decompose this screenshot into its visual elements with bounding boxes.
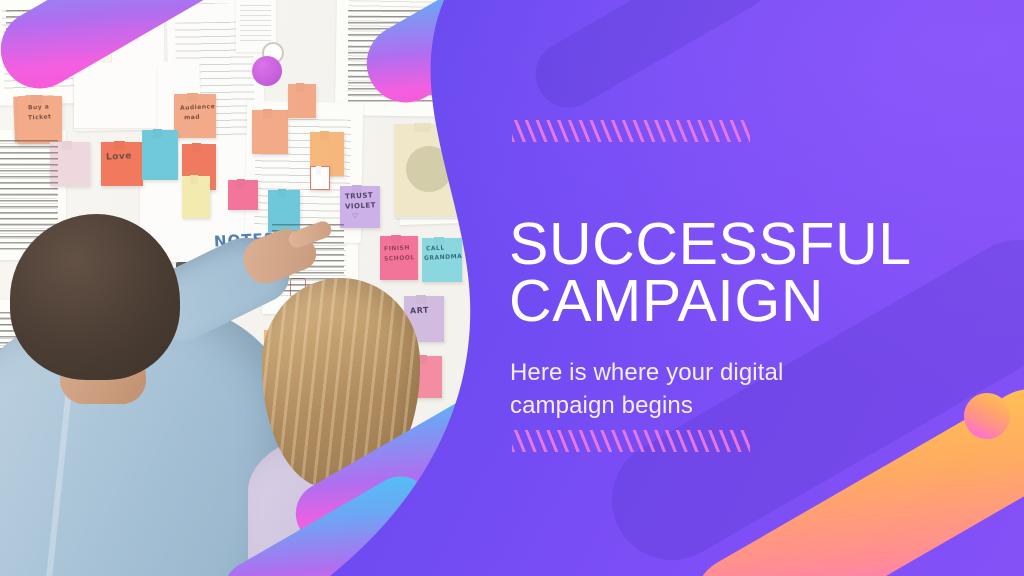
wall-sketch	[74, 66, 156, 128]
decor-ghost-pill-top	[524, 0, 782, 120]
sticky-note-text: TRUST	[345, 191, 374, 200]
sticky-note-text: ART	[410, 306, 429, 316]
sticky-note	[101, 142, 143, 186]
sticky-note-text: Buy a	[28, 103, 50, 111]
wall-ball	[252, 56, 282, 86]
sticky-note-text: mad	[184, 114, 200, 122]
sticky-note	[228, 180, 258, 210]
sticky-note	[252, 110, 288, 154]
slide-subtitle-line-1: Here is where your digital	[510, 357, 870, 390]
presentation-slide: Love NOTES TRUST VIOLET ♡ CALL GRANDMA F…	[0, 0, 1024, 576]
slide-title-line-1: SUCCESSFUL	[509, 216, 979, 274]
slide-title-line-2: CAMPAIGN	[509, 273, 979, 331]
sticky-note-text: VIOLET	[345, 201, 376, 211]
sticky-note-text: CALL	[426, 245, 445, 253]
sticky-note	[182, 176, 210, 218]
sticky-note	[288, 84, 316, 118]
decor-stripes-bottom	[512, 430, 750, 452]
decor-circle-bottom-right	[964, 393, 1010, 439]
slide-subtitle-line-2: campaign begins	[510, 390, 870, 423]
sticky-note-text: Ticket	[28, 113, 52, 121]
slide-title: SUCCESSFUL CAMPAIGN	[509, 216, 979, 332]
decor-stripes-top	[512, 120, 750, 142]
sticky-note-text: ♡	[352, 212, 359, 220]
sticky-note-text: FINISH	[384, 244, 410, 252]
sticky-note	[310, 166, 330, 190]
sticky-note	[142, 130, 178, 180]
slide-subtitle: Here is where your digital campaign begi…	[510, 357, 870, 422]
man-head	[10, 214, 180, 380]
sticky-note-text: Love	[106, 151, 132, 162]
